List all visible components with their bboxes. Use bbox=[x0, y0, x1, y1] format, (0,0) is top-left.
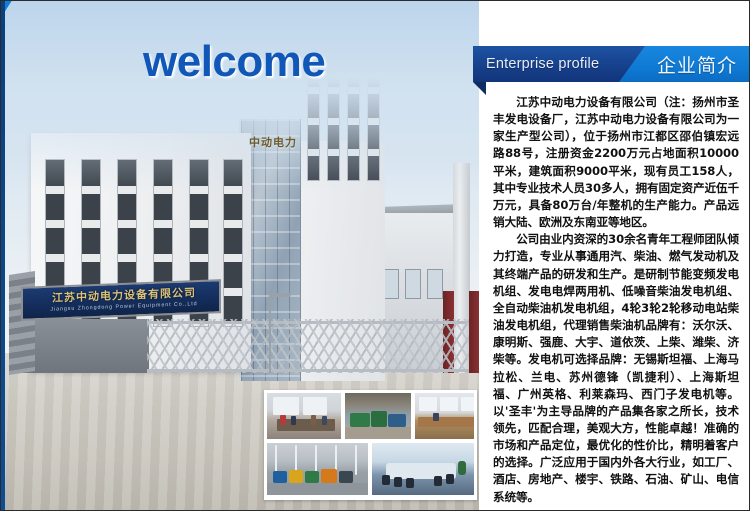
left-visual-panel: 江苏中动电力设备有限公司 Jiangsu Zhongdong Power Equ… bbox=[1, 1, 483, 510]
rooftop-logo-text: 中动电力 bbox=[249, 134, 297, 150]
photo-strip-row-bottom bbox=[266, 442, 475, 496]
profile-paragraph-2: 公司由业内资深的30余名青年工程师团队倾力打造，专业从事通用汽、柴油、燃气发动机… bbox=[493, 231, 739, 506]
entrance-podium bbox=[23, 319, 149, 373]
photo-strip-row-top bbox=[266, 392, 475, 440]
fence-rail bbox=[147, 369, 469, 372]
company-profile-page: 江苏中动电力设备有限公司 Jiangsu Zhongdong Power Equ… bbox=[0, 0, 750, 511]
workshop-photo bbox=[266, 442, 369, 496]
section-header-chinese-label: 企业简介 bbox=[657, 51, 737, 78]
meeting-room-photo bbox=[266, 392, 342, 440]
hall-window bbox=[427, 269, 443, 299]
generator-assembly-photo bbox=[344, 392, 412, 440]
page-left-edge bbox=[1, 1, 5, 510]
section-header-english: Enterprise profile bbox=[473, 46, 619, 82]
light-pole bbox=[269, 293, 271, 373]
section-header-english-label: Enterprise profile bbox=[486, 56, 599, 72]
hall-window bbox=[383, 269, 399, 299]
company-profile-text: 江苏中动电力设备有限公司（注：扬州市圣丰发电设备厂，江苏中动电力设备有限公司为一… bbox=[493, 94, 739, 506]
retractable-gate-fence bbox=[147, 319, 469, 373]
section-header-bar: Enterprise profile 企业简介 bbox=[473, 46, 749, 82]
hall-window bbox=[405, 269, 421, 299]
office-photo bbox=[414, 392, 475, 440]
photo-gallery-strip bbox=[264, 390, 477, 500]
light-pole-head bbox=[269, 293, 291, 297]
profile-text-panel: Enterprise profile 企业简介 江苏中动电力设备有限公司（注：扬… bbox=[479, 1, 749, 510]
profile-paragraph-1: 江苏中动电力设备有限公司（注：扬州市圣丰发电设备厂，江苏中动电力设备有限公司为一… bbox=[493, 94, 739, 231]
welcome-heading: welcome bbox=[143, 37, 325, 87]
sky-tint-overlay bbox=[1, 1, 483, 191]
conference-room-photo bbox=[371, 442, 475, 496]
